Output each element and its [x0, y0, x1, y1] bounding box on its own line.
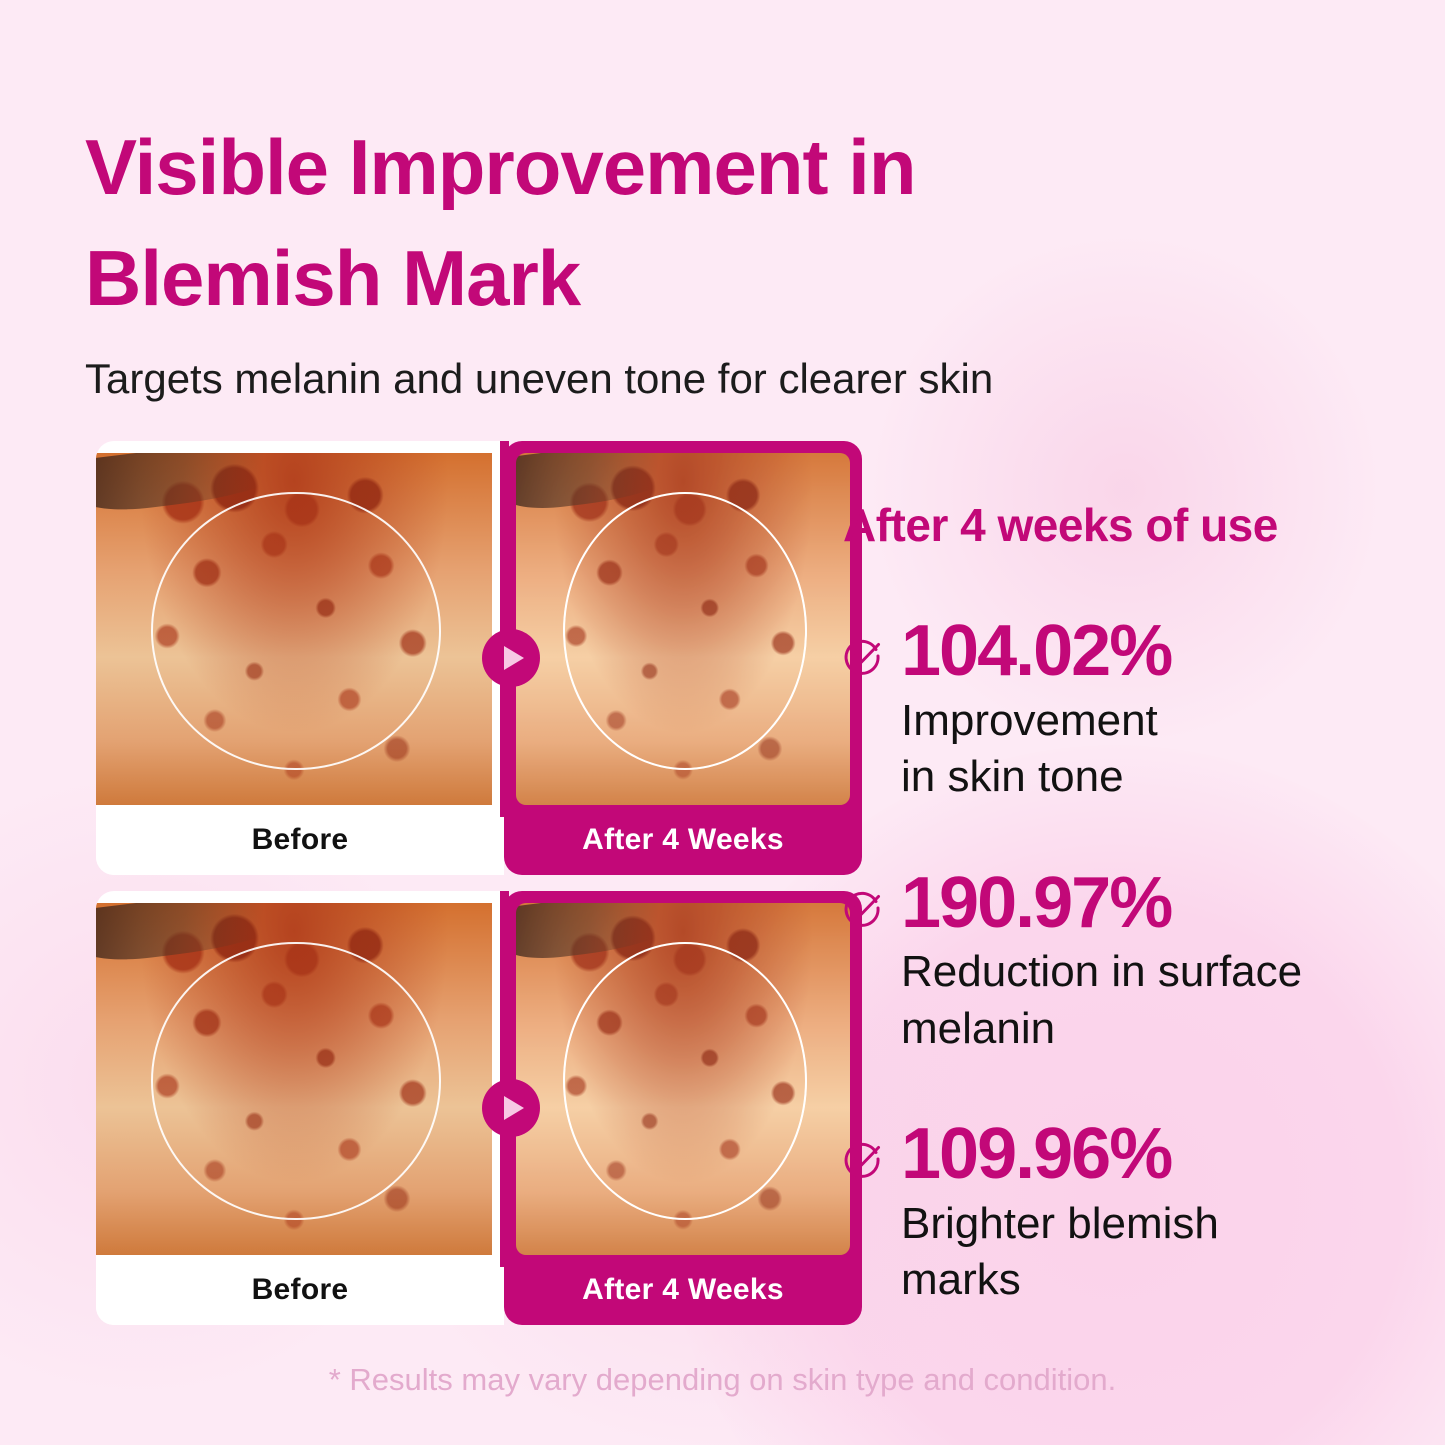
- before-skin-photo: [96, 453, 492, 805]
- skin-closeup-image: [516, 903, 850, 1255]
- stats-heading: After 4 weeks of use: [843, 498, 1388, 552]
- play-triangle-glyph: [504, 1096, 524, 1120]
- stat-value: 109.96%: [901, 1117, 1388, 1192]
- after-label: After 4 Weeks: [582, 823, 784, 857]
- before-skin-photo: [96, 903, 492, 1255]
- stat-value: 104.02%: [901, 614, 1388, 689]
- stat-item: 190.97% Reduction in surface melanin: [843, 866, 1388, 1058]
- disclaimer-text: * Results may vary depending on skin typ…: [0, 1362, 1445, 1398]
- after-label-bar: After 4 Weeks: [504, 1255, 862, 1325]
- skin-closeup-image: [516, 453, 850, 805]
- before-pane: Before: [96, 891, 504, 1325]
- after-label-bar: After 4 Weeks: [504, 805, 862, 875]
- play-triangle-glyph: [504, 646, 524, 670]
- stat-item: 109.96% Brighter blemish marks: [843, 1117, 1388, 1309]
- stat-label: Reduction in surface melanin: [901, 944, 1388, 1057]
- before-label-bar: Before: [96, 805, 504, 875]
- check-circle-icon: [843, 1139, 883, 1179]
- before-label: Before: [252, 823, 349, 857]
- check-circle-icon: [843, 888, 883, 928]
- after-pane: After 4 Weeks: [504, 891, 862, 1325]
- comparison-card[interactable]: Before After 4 Weeks: [96, 891, 766, 1325]
- check-circle-icon: [843, 636, 883, 676]
- after-pane: After 4 Weeks: [504, 441, 862, 875]
- page-subtitle: Targets melanin and uneven tone for clea…: [85, 352, 1205, 407]
- stat-item: 104.02% Improvement in skin tone: [843, 614, 1388, 806]
- before-label: Before: [252, 1273, 349, 1307]
- page-title: Visible Improvement in Blemish Mark: [85, 112, 1145, 334]
- stat-label: Brighter blemish marks: [901, 1196, 1388, 1309]
- comparison-card[interactable]: Before After 4 Weeks: [96, 441, 766, 875]
- stat-label: Improvement in skin tone: [901, 693, 1388, 806]
- after-skin-photo: [516, 903, 850, 1255]
- after-label: After 4 Weeks: [582, 1273, 784, 1307]
- play-triangle-icon[interactable]: [482, 1079, 540, 1137]
- after-skin-photo: [516, 453, 850, 805]
- skin-closeup-image: [96, 453, 492, 805]
- stats-panel: After 4 weeks of use 104.02% Improvement…: [843, 498, 1388, 1309]
- marketing-graphic-root: Visible Improvement in Blemish Mark Targ…: [0, 0, 1445, 1445]
- stat-value: 190.97%: [901, 866, 1388, 941]
- before-pane: Before: [96, 441, 504, 875]
- before-label-bar: Before: [96, 1255, 504, 1325]
- play-triangle-icon[interactable]: [482, 629, 540, 687]
- skin-closeup-image: [96, 903, 492, 1255]
